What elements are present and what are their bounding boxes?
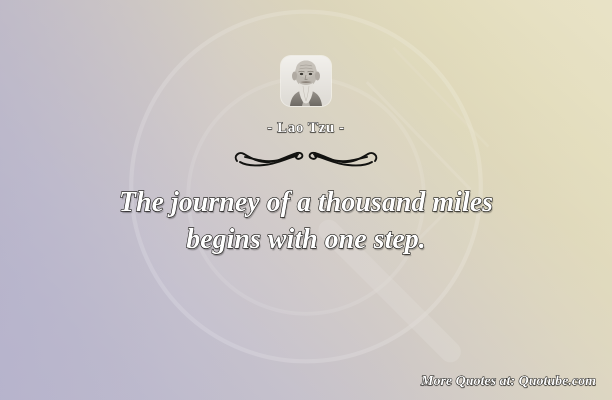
author-name: - Lao Tzu - (267, 120, 345, 137)
quote-text: The journey of a thousand miles begins w… (46, 185, 566, 259)
ornament-divider-icon (231, 145, 381, 171)
quote-line-2: begins with one step. (46, 222, 566, 259)
quote-line-1: The journey of a thousand miles (46, 185, 566, 222)
footer-attribution[interactable]: More Quotes at: Quotube.com (421, 374, 596, 390)
quote-card: - Lao Tzu - The journey of a thousa (0, 0, 612, 400)
card-content: - Lao Tzu - The journey of a thousa (0, 0, 612, 400)
author-portrait-icon (281, 56, 331, 106)
